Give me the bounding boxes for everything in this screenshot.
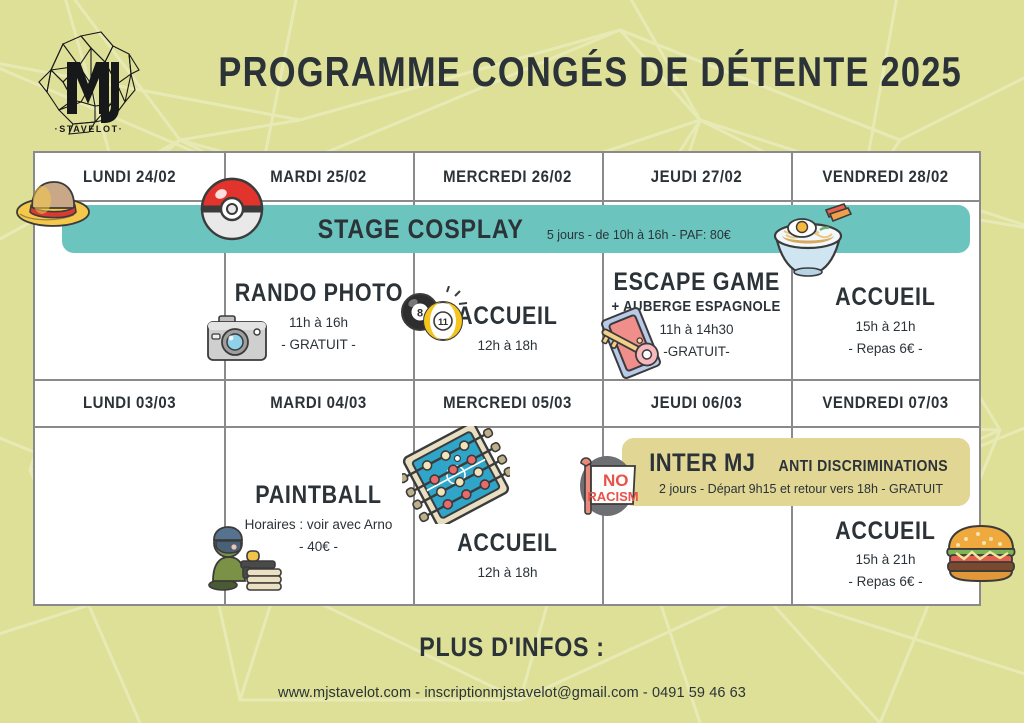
activity-title: RANDO PHOTO xyxy=(234,280,402,308)
day-header-vendredi-2802: VENDREDI 28/02 xyxy=(802,153,968,200)
activity-price: - Repas 6€ - xyxy=(848,341,922,356)
activity-price: - 40€ - xyxy=(299,539,338,554)
cell-accueil-mercredi-2602[interactable]: ACCUEIL 12h à 18h xyxy=(413,277,602,379)
activity-time: 11h à 16h xyxy=(289,315,348,330)
activity-price: -GRATUIT- xyxy=(663,344,730,359)
banner-subtitle: 2 jours - Départ 9h15 et retour vers 18h… xyxy=(659,482,943,496)
activity-time: 15h à 21h xyxy=(855,319,915,334)
day-header-lundi-2402: LUNDI 24/02 xyxy=(46,153,212,200)
footer-title: PLUS D'INFOS : xyxy=(72,632,953,663)
activity-title: ACCUEIL xyxy=(457,530,557,558)
svg-text:·STAVELOT·: ·STAVELOT· xyxy=(55,124,124,134)
activity-title: ACCUEIL xyxy=(835,518,935,546)
day-header-vendredi-0703: VENDREDI 07/03 xyxy=(802,379,968,426)
activity-time: 12h à 18h xyxy=(477,338,537,353)
banner-title: INTER MJ xyxy=(650,449,756,478)
day-header-mercredi-2602: MERCREDI 26/02 xyxy=(424,153,590,200)
day-header-mardi-0403: MARDI 04/03 xyxy=(235,379,401,426)
cell-accueil-vendredi-2802[interactable]: ACCUEIL 15h à 21h - Repas 6€ - xyxy=(791,261,980,379)
activity-time: 11h à 14h30 xyxy=(659,322,733,337)
activity-title: PAINTBALL xyxy=(255,482,381,510)
banner-title: STAGE COSPLAY xyxy=(318,214,524,245)
page-title: PROGRAMME CONGÉS DE DÉTENTE 2025 xyxy=(218,48,841,96)
activity-price: - GRATUIT - xyxy=(281,337,356,352)
activity-time: 12h à 18h xyxy=(477,565,537,580)
mj-stavelot-logo: ·STAVELOT· xyxy=(33,22,145,137)
activity-subtitle: + AUBERGE ESPAGNOLE xyxy=(612,298,781,315)
day-header-lundi-0303: LUNDI 03/03 xyxy=(46,379,212,426)
day-header-mardi-2502: MARDI 25/02 xyxy=(235,153,401,200)
activity-price: - Repas 6€ - xyxy=(848,574,922,589)
activity-title: ACCUEIL xyxy=(457,303,557,331)
poster-page: ·STAVELOT· PROGRAMME CONGÉS DE DÉTENTE 2… xyxy=(0,0,1024,723)
cell-accueil-mercredi-0503[interactable]: ACCUEIL 12h à 18h xyxy=(413,505,602,605)
banner-subtitle: 5 jours - de 10h à 16h - PAF: 80€ xyxy=(547,228,731,242)
day-header-mercredi-0503: MERCREDI 05/03 xyxy=(424,379,590,426)
cell-escape-game[interactable]: ESCAPE GAME + AUBERGE ESPAGNOLE 11h à 14… xyxy=(602,249,791,379)
activity-title: ACCUEIL xyxy=(835,284,935,312)
cell-accueil-vendredi-0703[interactable]: ACCUEIL 15h à 21h - Repas 6€ - xyxy=(791,501,980,606)
footer-contact[interactable]: www.mjstavelot.com - inscriptionmjstavel… xyxy=(0,685,1024,701)
row-divider-3 xyxy=(35,426,979,428)
banner-title-suffix: ANTI DISCRIMINATIONS xyxy=(779,458,948,476)
activity-title: ESCAPE GAME xyxy=(613,269,779,297)
activity-time: 15h à 21h xyxy=(855,552,915,567)
cell-rando-photo[interactable]: RANDO PHOTO 11h à 16h - GRATUIT - xyxy=(224,253,413,379)
row-divider-1 xyxy=(35,200,979,202)
banner-stage-cosplay[interactable]: STAGE COSPLAY 5 jours - de 10h à 16h - P… xyxy=(62,205,970,253)
activity-time: Horaires : voir avec Arno xyxy=(245,517,393,532)
cell-paintball[interactable]: PAINTBALL Horaires : voir avec Arno - 40… xyxy=(224,463,413,573)
day-header-jeudi-2702: JEUDI 27/02 xyxy=(613,153,779,200)
banner-inter-mj[interactable]: INTER MJ ANTI DISCRIMINATIONS 2 jours - … xyxy=(622,438,970,506)
day-header-jeudi-0603: JEUDI 06/03 xyxy=(613,379,779,426)
